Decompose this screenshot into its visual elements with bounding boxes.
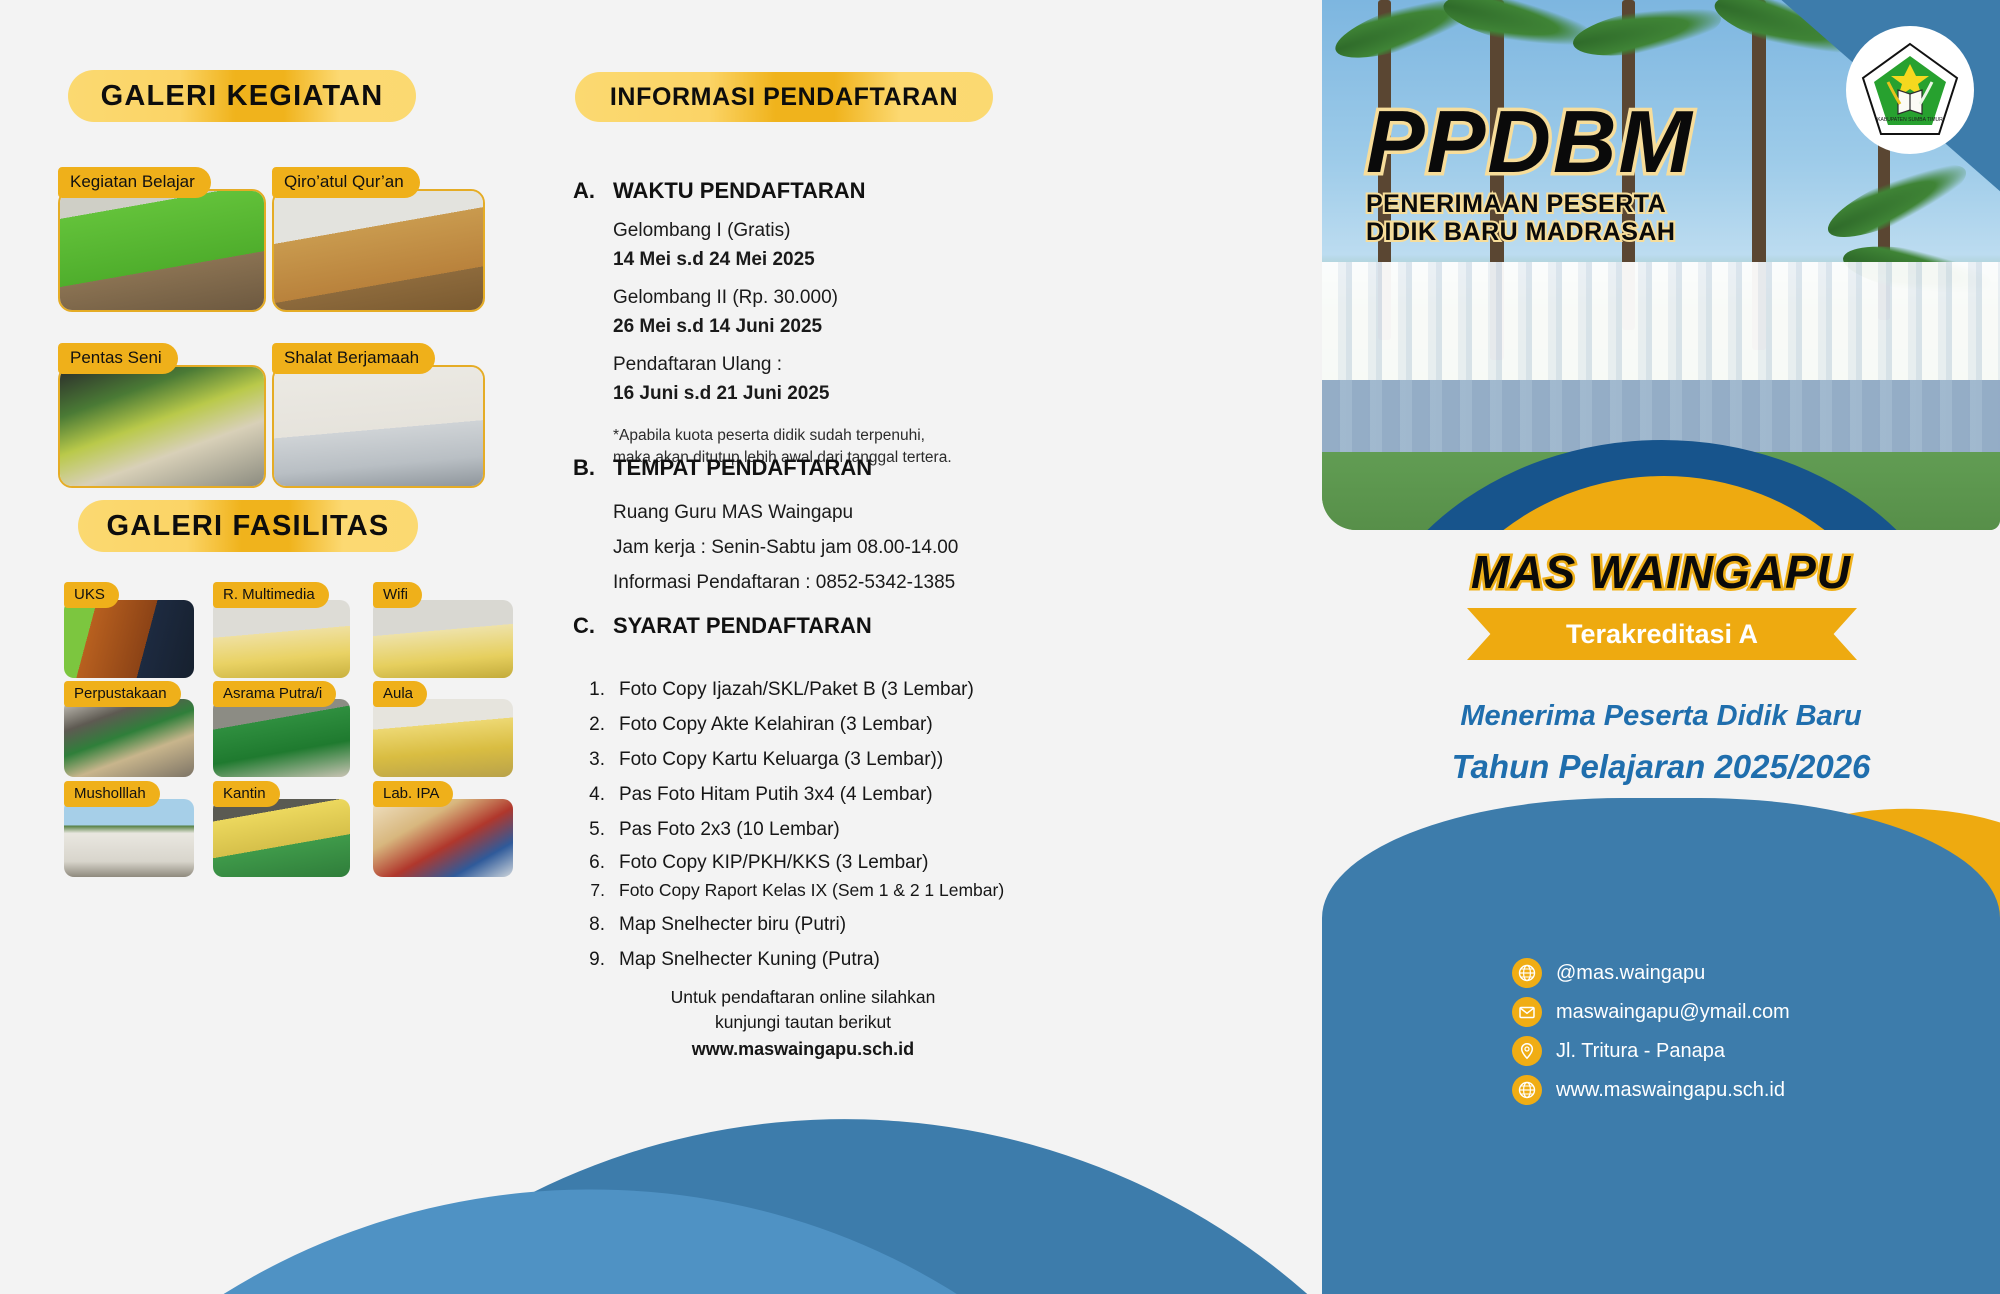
reregister-label: Pendaftaran Ulang : <box>613 350 1033 379</box>
art-performance-photo <box>58 365 266 488</box>
globe-icon <box>1512 1075 1542 1105</box>
facility-label: UKS <box>64 582 119 608</box>
req-text: Foto Copy Raport Kelas IX (Sem 1 & 2 1 L… <box>619 880 1004 901</box>
closing-line-2: kunjungi tautan berikut <box>573 1010 1033 1035</box>
contact-website[interactable]: www.maswaingapu.sch.id <box>1512 1075 1982 1105</box>
quota-note-line-1: *Apabila kuota peserta didik sudah terpe… <box>613 425 1033 447</box>
wave1-dates: 14 Mei s.d 24 Mei 2025 <box>613 245 1033 274</box>
activity-card-qiroatul-quran: Qiro’atul Qur’an <box>272 167 487 312</box>
library-photo <box>64 699 194 777</box>
wifi-room-photo <box>373 600 513 678</box>
list-item: 9. Map Snelhecter Kuning (Putra) <box>573 949 1033 971</box>
registration-info-column: INFORMASI PENDAFTARAN A. WAKTU PENDAFTAR… <box>565 0 1035 1294</box>
accreditation-label: Terakreditasi A <box>1467 608 1857 660</box>
req-number: 9. <box>573 949 619 971</box>
tagline-line-2: Tahun Pelajaran 2025/2026 <box>1322 748 2000 786</box>
online-registration-note: Untuk pendaftaran online silahkan kunjun… <box>573 985 1033 1062</box>
ppdbm-title-block: PPDBM PENERIMAAN PESERTA DIDIK BARU MADR… <box>1366 100 1694 246</box>
req-text: Map Snelhecter biru (Putri) <box>619 914 846 936</box>
req-text: Pas Foto Hitam Putih 3x4 (4 Lembar) <box>619 784 933 806</box>
req-number: 8. <box>573 914 619 936</box>
req-number: 7. <box>573 880 619 901</box>
req-text: Foto Copy Kartu Keluarga (3 Lembar)) <box>619 749 943 771</box>
contact-text: maswaingapu@ymail.com <box>1556 1001 1790 1024</box>
req-number: 3. <box>573 749 619 771</box>
brochure-page: GALERI KEGIATAN Kegiatan Belajar Qiro’at… <box>0 0 2000 1294</box>
contact-text: www.maswaingapu.sch.id <box>1556 1079 1785 1102</box>
req-number: 5. <box>573 819 619 841</box>
list-item: 3. Foto Copy Kartu Keluarga (3 Lembar)) <box>573 749 1033 771</box>
activity-card-shalat-berjamaah: Shalat Berjamaah <box>272 343 487 488</box>
health-room-photo <box>64 600 194 678</box>
wave1-label: Gelombang I (Gratis) <box>613 216 1033 245</box>
email-icon <box>1512 997 1542 1027</box>
req-number: 4. <box>573 784 619 806</box>
contact-text: @mas.waingapu <box>1556 962 1705 985</box>
registration-website-link[interactable]: www.maswaingapu.sch.id <box>573 1036 1033 1062</box>
hall-photo <box>373 699 513 777</box>
congregational-prayer-photo <box>272 365 485 488</box>
svg-text:KABUPATEN SUMBA TIMUR: KABUPATEN SUMBA TIMUR <box>1877 117 1943 123</box>
list-item: 1. Foto Copy Ijazah/SKL/Paket B (3 Lemba… <box>573 679 1033 701</box>
section-a-header: A. WAKTU PENDAFTARAN <box>573 178 1033 204</box>
section-c-letter: C. <box>573 613 599 639</box>
facility-label: R. Multimedia <box>213 582 329 608</box>
location-pin-icon <box>1512 1036 1542 1066</box>
req-text: Pas Foto 2x3 (10 Lembar) <box>619 819 840 841</box>
section-a-title: WAKTU PENDAFTARAN <box>613 178 866 204</box>
activity-label: Shalat Berjamaah <box>272 343 435 374</box>
facility-label: Kantin <box>213 781 280 807</box>
activity-label: Qiro’atul Qur’an <box>272 167 420 198</box>
globe-icon <box>1512 958 1542 988</box>
page-title: MAS WAINGAPU <box>1322 545 2000 599</box>
working-hours: Jam kerja : Senin-Sabtu jam 08.00-14.00 <box>613 530 1033 565</box>
registration-phone: Informasi Pendaftaran : 0852-5342-1385 <box>613 565 1033 600</box>
req-number: 1. <box>573 679 619 701</box>
facility-label: Asrama Putra/i <box>213 681 336 707</box>
requirements-list: 1. Foto Copy Ijazah/SKL/Paket B (3 Lemba… <box>573 679 1033 971</box>
classroom-learning-photo <box>58 189 266 312</box>
closing-line-1: Untuk pendaftaran online silahkan <box>573 985 1033 1010</box>
req-text: Map Snelhecter Kuning (Putra) <box>619 949 880 971</box>
contact-list: @mas.waingapu maswaingapu@ymail.com Jl. … <box>1512 958 1982 1105</box>
section-b-letter: B. <box>573 455 599 481</box>
contact-email[interactable]: maswaingapu@ymail.com <box>1512 997 1982 1027</box>
facility-label: Musholllah <box>64 781 160 807</box>
section-tempat-pendaftaran: B. TEMPAT PENDAFTARAN Ruang Guru MAS Wai… <box>573 455 1033 600</box>
registration-place: Ruang Guru MAS Waingapu <box>613 495 1033 530</box>
tagline-line-1: Menerima Peserta Didik Baru <box>1322 700 2000 733</box>
ppdbm-title: PPDBM <box>1366 100 1694 184</box>
req-text: Foto Copy Ijazah/SKL/Paket B (3 Lembar) <box>619 679 974 701</box>
facility-label: Wifi <box>373 582 422 608</box>
contact-address[interactable]: Jl. Tritura - Panapa <box>1512 1036 1982 1066</box>
registration-info-heading: INFORMASI PENDAFTARAN <box>575 72 993 122</box>
dormitory-photo <box>213 699 350 777</box>
list-item: 5. Pas Foto 2x3 (10 Lembar) <box>573 819 1033 841</box>
section-waktu-pendaftaran: A. WAKTU PENDAFTARAN Gelombang I (Gratis… <box>573 178 1033 470</box>
list-item: 4. Pas Foto Hitam Putih 3x4 (4 Lembar) <box>573 784 1033 806</box>
ppdbm-subtitle-line-2: DIDIK BARU MADRASAH <box>1366 218 1694 246</box>
facility-label: Perpustakaan <box>64 681 181 707</box>
req-text: Foto Copy KIP/PKH/KKS (3 Lembar) <box>619 852 928 874</box>
left-gallery-column: GALERI KEGIATAN Kegiatan Belajar Qiro’at… <box>0 0 560 1294</box>
section-c-title: SYARAT PENDAFTARAN <box>613 613 872 639</box>
contact-instagram[interactable]: @mas.waingapu <box>1512 958 1982 988</box>
section-b-header: B. TEMPAT PENDAFTARAN <box>573 455 1033 481</box>
list-item: 2. Foto Copy Akte Kelahiran (3 Lembar) <box>573 714 1033 736</box>
section-a-letter: A. <box>573 178 599 204</box>
activity-label: Pentas Seni <box>58 343 178 374</box>
req-number: 6. <box>573 852 619 874</box>
science-lab-photo <box>373 799 513 877</box>
canteen-photo <box>213 799 350 877</box>
gallery-facilities-heading: GALERI FASILITAS <box>78 500 418 552</box>
list-item: 6. Foto Copy KIP/PKH/KKS (3 Lembar) <box>573 852 1033 874</box>
req-text: Foto Copy Akte Kelahiran (3 Lembar) <box>619 714 933 736</box>
cover-panel: KABUPATEN SUMBA TIMUR PPDBM PENERIMAAN P… <box>1322 0 2000 1294</box>
list-item: 8. Map Snelhecter biru (Putri) <box>573 914 1033 936</box>
section-b-title: TEMPAT PENDAFTARAN <box>613 455 872 481</box>
activity-label: Kegiatan Belajar <box>58 167 211 198</box>
reregister-dates: 16 Juni s.d 21 Juni 2025 <box>613 379 1033 408</box>
prayer-house-photo <box>64 799 194 877</box>
yayasan-pendidikan-pengajaran-islam-logo: KABUPATEN SUMBA TIMUR <box>1846 26 1974 154</box>
ppdbm-subtitle-line-1: PENERIMAAN PESERTA <box>1366 190 1694 218</box>
activity-card-kegiatan-belajar: Kegiatan Belajar <box>58 167 268 312</box>
section-c-header: C. SYARAT PENDAFTARAN <box>573 613 1033 639</box>
wave2-dates: 26 Mei s.d 14 Juni 2025 <box>613 312 1033 341</box>
gallery-activities-heading: GALERI KEGIATAN <box>68 70 416 122</box>
contact-text: Jl. Tritura - Panapa <box>1556 1040 1725 1063</box>
quran-recitation-photo <box>272 189 485 312</box>
wave2-label: Gelombang II (Rp. 30.000) <box>613 283 1033 312</box>
activity-card-pentas-seni: Pentas Seni <box>58 343 268 488</box>
multimedia-room-photo <box>213 600 350 678</box>
facility-label: Lab. IPA <box>373 781 453 807</box>
facility-label: Aula <box>373 681 427 707</box>
section-syarat-pendaftaran: C. SYARAT PENDAFTARAN 1. Foto Copy Ijaza… <box>573 613 1033 1062</box>
req-number: 2. <box>573 714 619 736</box>
hero-banner: KABUPATEN SUMBA TIMUR PPDBM PENERIMAAN P… <box>1322 0 2000 530</box>
list-item: 7. Foto Copy Raport Kelas IX (Sem 1 & 2 … <box>573 880 1033 901</box>
